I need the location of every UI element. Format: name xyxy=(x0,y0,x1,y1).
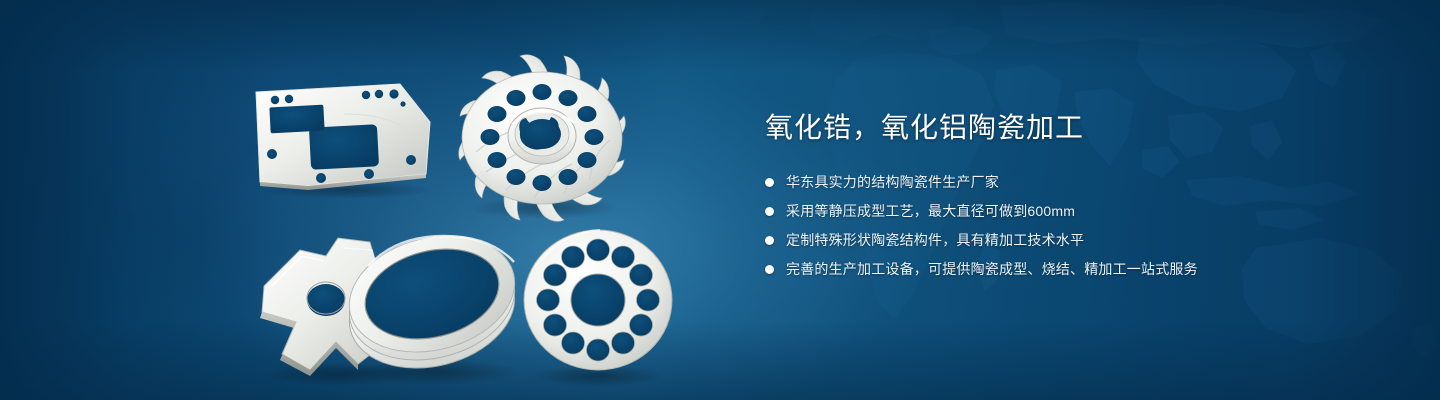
banner-headline: 氧化锆，氧化铝陶瓷加工 xyxy=(765,110,1385,146)
bullet-dot-icon xyxy=(765,178,774,187)
bullet-dot-icon xyxy=(765,265,774,274)
list-item: 华东具实力的结构陶瓷件生产厂家 xyxy=(765,172,1385,192)
bullet-text: 完善的生产加工设备，可提供陶瓷成型、烧结、精加工一站式服务 xyxy=(786,259,1198,279)
bullet-text: 定制特殊形状陶瓷结构件，具有精加工技术水平 xyxy=(786,230,1084,250)
ceramic-perforated-disc-part xyxy=(518,224,684,400)
ceramic-impeller-part xyxy=(452,50,632,222)
hero-banner: 氧化锆，氧化铝陶瓷加工 华东具实力的结构陶瓷件生产厂家 采用等静压成型工艺，最大… xyxy=(0,0,1440,400)
ceramic-plate-part xyxy=(248,78,438,198)
ceramic-ring-part xyxy=(332,222,532,400)
bullet-dot-icon xyxy=(765,207,774,216)
product-photo-cluster xyxy=(0,0,720,400)
list-item: 定制特殊形状陶瓷结构件，具有精加工技术水平 xyxy=(765,230,1385,250)
bullet-dot-icon xyxy=(765,236,774,245)
list-item: 采用等静压成型工艺，最大直径可做到600mm xyxy=(765,201,1385,221)
banner-text-block: 氧化锆，氧化铝陶瓷加工 华东具实力的结构陶瓷件生产厂家 采用等静压成型工艺，最大… xyxy=(765,110,1385,288)
list-item: 完善的生产加工设备，可提供陶瓷成型、烧结、精加工一站式服务 xyxy=(765,259,1385,279)
banner-feature-list: 华东具实力的结构陶瓷件生产厂家 采用等静压成型工艺，最大直径可做到600mm 定… xyxy=(765,172,1385,279)
bullet-text: 采用等静压成型工艺，最大直径可做到600mm xyxy=(786,201,1075,221)
bullet-text: 华东具实力的结构陶瓷件生产厂家 xyxy=(786,172,999,192)
